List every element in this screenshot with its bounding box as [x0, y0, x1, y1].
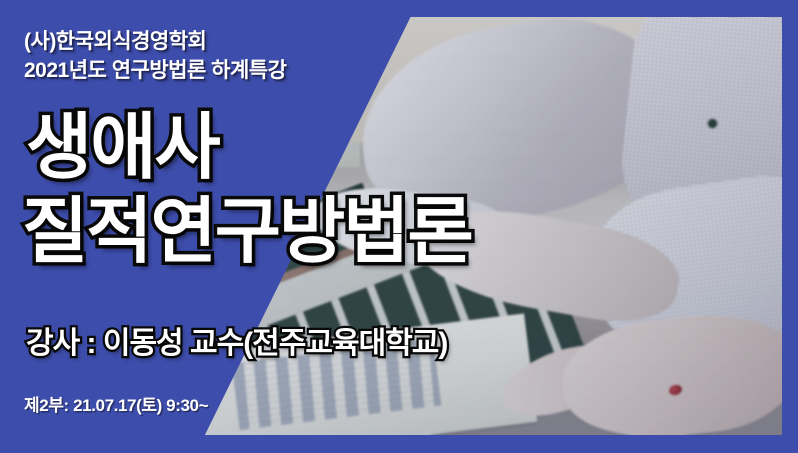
frame-band-right — [782, 0, 798, 453]
frame-band-bottom — [0, 435, 798, 453]
headline-line-1: 생애사 — [26, 112, 219, 184]
organization-name: (사)한국외식경영학회 — [24, 28, 206, 56]
pen — [61, 127, 188, 238]
photo-image — [0, 17, 782, 435]
frame-band-left — [0, 0, 1, 453]
event-subtitle: 2021년도 연구방법론 하계특강 — [24, 57, 286, 85]
writing-finger — [0, 258, 105, 331]
session-schedule: 제2부: 21.07.17(토) 9:30~ — [24, 391, 208, 416]
photo-wall-left — [0, 17, 360, 167]
resting-hand — [558, 306, 782, 435]
meeting-photo — [0, 17, 782, 435]
seminar-promo-banner: (사)한국외식경영학회 2021년도 연구방법론 하계특강 생애사 질적연구방법… — [0, 0, 798, 453]
frame-band-top — [0, 0, 798, 17]
writing-hand — [5, 226, 213, 377]
